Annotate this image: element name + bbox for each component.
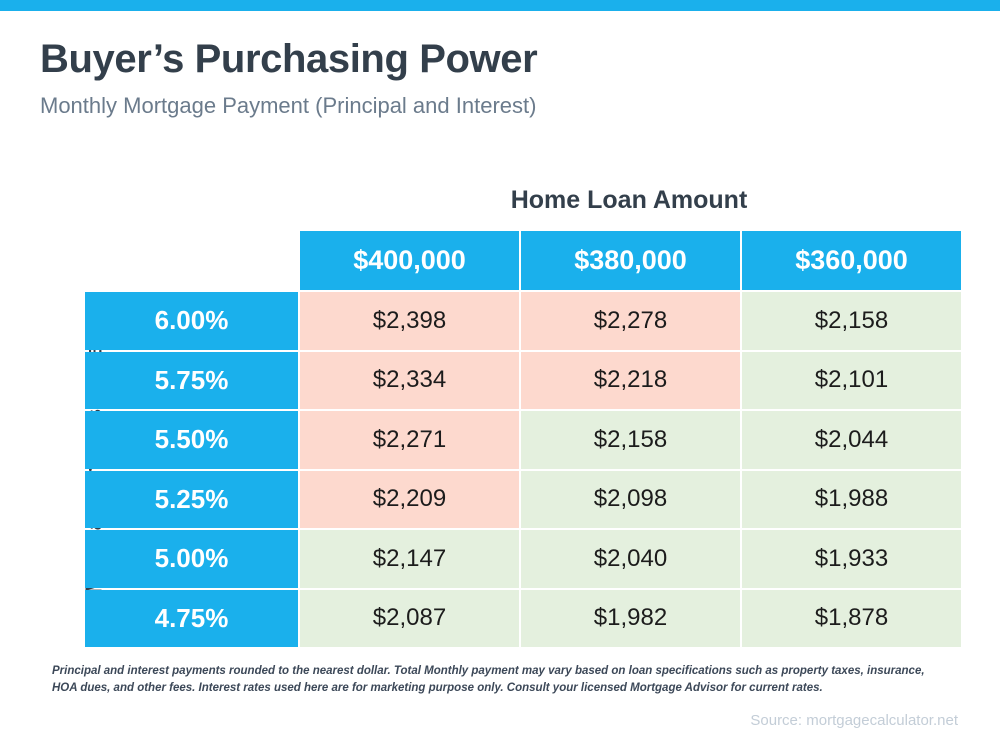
- table-cell-r3-c2: $2,158: [521, 411, 740, 469]
- table-cell-r2-c3: $2,101: [742, 352, 961, 410]
- row-header-rate-5: 5.00%: [85, 530, 298, 588]
- row-header-rate-3: 5.50%: [85, 411, 298, 469]
- table-cell-r3-c1: $2,271: [300, 411, 519, 469]
- table-cell-r6-c1: $2,087: [300, 590, 519, 648]
- table-cell-r6-c2: $1,982: [521, 590, 740, 648]
- heading-block: Buyer’s Purchasing Power Monthly Mortgag…: [40, 38, 940, 118]
- table-cell-r5-c3: $1,933: [742, 530, 961, 588]
- row-header-rate-4: 5.25%: [85, 471, 298, 529]
- column-header-1: $400,000: [300, 231, 519, 290]
- table-cell-r4-c1: $2,209: [300, 471, 519, 529]
- table-cell-r2-c2: $2,218: [521, 352, 740, 410]
- table-cell-r1-c1: $2,398: [300, 292, 519, 350]
- top-accent-bar: [0, 0, 1000, 11]
- footnote-disclaimer: Principal and interest payments rounded …: [52, 663, 942, 696]
- table-grid: $400,000$380,000$360,0006.00%$2,398$2,27…: [85, 231, 958, 649]
- table-cell-r2-c1: $2,334: [300, 352, 519, 410]
- source-attribution: Source: mortgagecalculator.net: [750, 712, 958, 729]
- table-cell-r4-c3: $1,988: [742, 471, 961, 529]
- table-cell-r5-c2: $2,040: [521, 530, 740, 588]
- page-subtitle: Monthly Mortgage Payment (Principal and …: [40, 94, 940, 118]
- table-cell-r5-c1: $2,147: [300, 530, 519, 588]
- column-header-3: $360,000: [742, 231, 961, 290]
- row-header-rate-2: 5.75%: [85, 352, 298, 410]
- table-cell-r3-c3: $2,044: [742, 411, 961, 469]
- page-title: Buyer’s Purchasing Power: [40, 38, 940, 80]
- table-cell-r4-c2: $2,098: [521, 471, 740, 529]
- table-cell-r1-c3: $2,158: [742, 292, 961, 350]
- row-header-rate-1: 6.00%: [85, 292, 298, 350]
- table-cell-r1-c2: $2,278: [521, 292, 740, 350]
- row-header-rate-6: 4.75%: [85, 590, 298, 648]
- table-cell-r6-c3: $1,878: [742, 590, 961, 648]
- column-header-2: $380,000: [521, 231, 740, 290]
- column-group-title: Home Loan Amount: [300, 186, 958, 215]
